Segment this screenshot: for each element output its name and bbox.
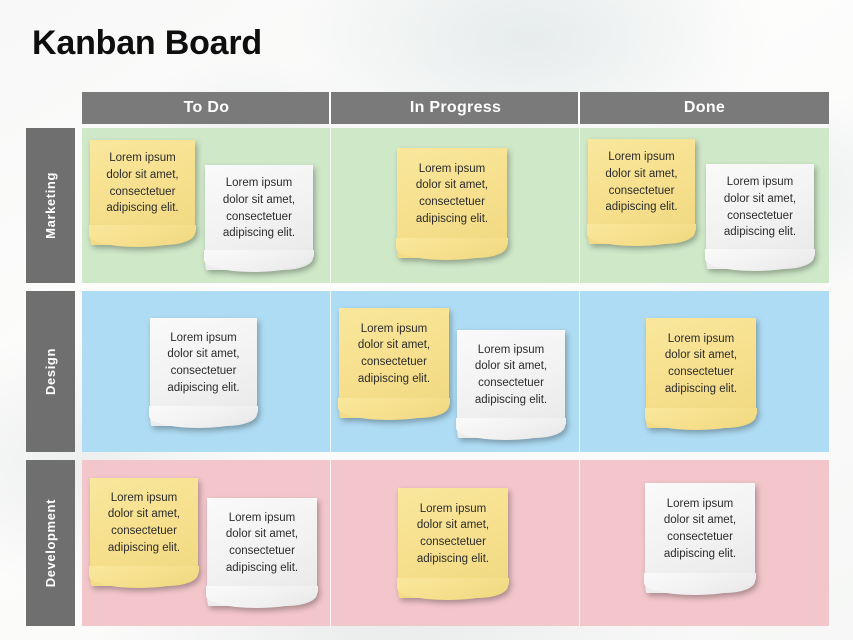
sticky-note[interactable]: Lorem ipsum dolor sit amet, consectetuer… — [645, 483, 755, 593]
sticky-note-text: Lorem ipsum dolor sit amet, consectetuer… — [348, 321, 440, 388]
row-label-development[interactable]: Development — [26, 460, 75, 626]
sticky-note-text: Lorem ipsum dolor sit amet, consectetuer… — [407, 501, 499, 568]
column-header-to-do[interactable]: To Do — [82, 92, 331, 124]
sticky-note-text: Lorem ipsum dolor sit amet, consectetuer… — [466, 342, 556, 409]
sticky-note[interactable]: Lorem ipsum dolor sit amet, consectetuer… — [339, 308, 449, 418]
sticky-note[interactable]: Lorem ipsum dolor sit amet, consectetuer… — [588, 139, 695, 244]
sticky-note[interactable]: Lorem ipsum dolor sit amet, consectetuer… — [457, 330, 565, 438]
sticky-note-text: Lorem ipsum dolor sit amet, consectetuer… — [99, 490, 189, 557]
column-header-done[interactable]: Done — [580, 92, 829, 124]
sticky-note-text: Lorem ipsum dolor sit amet, consectetuer… — [655, 331, 747, 398]
sticky-note-text: Lorem ipsum dolor sit amet, consectetuer… — [654, 496, 746, 563]
sticky-note[interactable]: Lorem ipsum dolor sit amet, consectetuer… — [90, 140, 195, 245]
row-label-text: Marketing — [43, 172, 58, 239]
sticky-note[interactable]: Lorem ipsum dolor sit amet, consectetuer… — [150, 318, 257, 426]
column-header-in-progress[interactable]: In Progress — [331, 92, 580, 124]
row-label-text: Design — [43, 348, 58, 395]
sticky-note-text: Lorem ipsum dolor sit amet, consectetuer… — [406, 161, 498, 228]
sticky-note[interactable]: Lorem ipsum dolor sit amet, consectetuer… — [706, 164, 814, 269]
sticky-note-text: Lorem ipsum dolor sit amet, consectetuer… — [597, 149, 686, 216]
page-title: Kanban Board — [32, 24, 262, 63]
sticky-note[interactable]: Lorem ipsum dolor sit amet, consectetuer… — [205, 165, 313, 270]
column-header-label: In Progress — [410, 99, 501, 117]
sticky-note[interactable]: Lorem ipsum dolor sit amet, consectetuer… — [90, 478, 198, 586]
column-header-label: To Do — [184, 99, 230, 117]
column-header-label: Done — [684, 99, 725, 117]
sticky-note[interactable]: Lorem ipsum dolor sit amet, consectetuer… — [398, 488, 508, 598]
row-label-marketing[interactable]: Marketing — [26, 128, 75, 283]
sticky-note[interactable]: Lorem ipsum dolor sit amet, consectetuer… — [207, 498, 317, 606]
sticky-note-text: Lorem ipsum dolor sit amet, consectetuer… — [216, 510, 308, 577]
sticky-note-text: Lorem ipsum dolor sit amet, consectetuer… — [715, 174, 805, 241]
sticky-note-text: Lorem ipsum dolor sit amet, consectetuer… — [214, 175, 304, 242]
kanban-board: Kanban Board To DoIn ProgressDone Market… — [0, 0, 853, 640]
sticky-note-text: Lorem ipsum dolor sit amet, consectetuer… — [159, 330, 248, 397]
row-label-design[interactable]: Design — [26, 291, 75, 452]
sticky-note[interactable]: Lorem ipsum dolor sit amet, consectetuer… — [646, 318, 756, 428]
row-label-text: Development — [43, 499, 58, 587]
sticky-note[interactable]: Lorem ipsum dolor sit amet, consectetuer… — [397, 148, 507, 258]
sticky-note-text: Lorem ipsum dolor sit amet, consectetuer… — [99, 150, 186, 217]
